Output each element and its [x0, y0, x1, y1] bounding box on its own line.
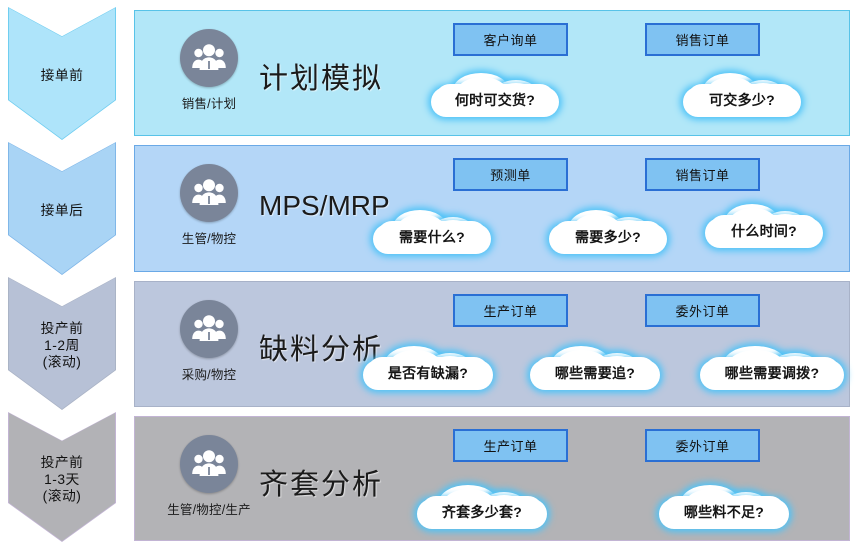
process-row-1: 生管/物控 MPS/MRP 预测单 销售订单 需要什么? 需要多少? 什么时间?	[134, 145, 850, 272]
people-group-icon	[180, 29, 238, 87]
question-cloud-3-0-label: 齐套多少套?	[442, 502, 522, 522]
order-box-3-0[interactable]: 生产订单	[453, 429, 568, 462]
process-row-0: 销售/计划 计划模拟 客户询单 销售订单 何时可交货? 可交多少?	[134, 10, 850, 136]
process-row-2: 采购/物控 缺料分析 生产订单 委外订单 是否有缺漏? 哪些需要追? 哪些需要调…	[134, 281, 850, 407]
stage-timeline-column: 接单前 接单后 投产前 1-2周 (滚动) 投产前 1-3天 (滚动)	[0, 0, 128, 545]
role-block-2: 采购/物控	[157, 300, 261, 383]
stage-chevron-3-label: 投产前 1-3天 (滚动)	[41, 454, 84, 504]
question-cloud-1-0[interactable]: 需要什么?	[373, 208, 491, 254]
stage-chevron-2[interactable]: 投产前 1-2周 (滚动)	[8, 277, 116, 410]
process-title-3: 齐套分析	[259, 461, 383, 503]
question-cloud-1-2-label: 什么时间?	[731, 221, 797, 241]
question-cloud-3-1[interactable]: 哪些料不足?	[659, 483, 789, 529]
stage-chevron-1[interactable]: 接单后	[8, 142, 116, 275]
order-box-3-1[interactable]: 委外订单	[645, 429, 760, 462]
role-block-3: 生管/物控/生产	[157, 435, 261, 518]
process-title-1: MPS/MRP	[259, 190, 390, 222]
question-cloud-0-0[interactable]: 何时可交货?	[431, 71, 559, 117]
stage-chevron-3-inner: 投产前 1-3天 (滚动)	[9, 413, 115, 541]
question-cloud-1-1-label: 需要多少?	[575, 227, 641, 247]
people-group-icon	[180, 164, 238, 222]
role-label-0: 销售/计划	[157, 93, 261, 112]
stage-chevron-0-label: 接单前	[41, 67, 84, 84]
question-cloud-3-1-label: 哪些料不足?	[684, 502, 764, 522]
order-box-1-0[interactable]: 预测单	[453, 158, 568, 191]
order-box-1-1[interactable]: 销售订单	[645, 158, 760, 191]
question-cloud-2-1-label: 哪些需要追?	[555, 363, 635, 383]
people-group-icon	[180, 300, 238, 358]
question-cloud-0-1[interactable]: 可交多少?	[683, 71, 801, 117]
people-group-icon	[180, 435, 238, 493]
stage-chevron-2-label: 投产前 1-2周 (滚动)	[41, 320, 84, 370]
process-title-0: 计划模拟	[259, 55, 383, 97]
stage-chevron-1-inner: 接单后	[9, 143, 115, 274]
order-box-2-0[interactable]: 生产订单	[453, 294, 568, 327]
question-cloud-2-0[interactable]: 是否有缺漏?	[363, 344, 493, 390]
stage-chevron-0[interactable]: 接单前	[8, 7, 116, 140]
question-cloud-2-1[interactable]: 哪些需要追?	[530, 344, 660, 390]
question-cloud-0-1-label: 可交多少?	[709, 90, 775, 110]
question-cloud-1-1[interactable]: 需要多少?	[549, 208, 667, 254]
question-cloud-3-0[interactable]: 齐套多少套?	[417, 483, 547, 529]
question-cloud-0-0-label: 何时可交货?	[455, 90, 535, 110]
role-block-0: 销售/计划	[157, 29, 261, 112]
question-cloud-2-2[interactable]: 哪些需要调拨?	[700, 344, 844, 390]
order-box-0-0[interactable]: 客户询单	[453, 23, 568, 56]
question-cloud-2-0-label: 是否有缺漏?	[388, 363, 468, 383]
stage-chevron-3[interactable]: 投产前 1-3天 (滚动)	[8, 412, 116, 542]
stage-chevron-0-inner: 接单前	[9, 8, 115, 139]
question-cloud-2-2-label: 哪些需要调拨?	[725, 363, 820, 383]
role-label-2: 采购/物控	[157, 364, 261, 383]
order-box-0-1[interactable]: 销售订单	[645, 23, 760, 56]
stage-chevron-1-label: 接单后	[41, 202, 84, 219]
stage-chevron-2-inner: 投产前 1-2周 (滚动)	[9, 278, 115, 409]
role-label-1: 生管/物控	[157, 228, 261, 247]
order-box-2-1[interactable]: 委外订单	[645, 294, 760, 327]
question-cloud-1-0-label: 需要什么?	[399, 227, 465, 247]
role-block-1: 生管/物控	[157, 164, 261, 247]
question-cloud-1-2[interactable]: 什么时间?	[705, 202, 823, 248]
role-label-3: 生管/物控/生产	[157, 499, 261, 518]
process-row-3: 生管/物控/生产 齐套分析 生产订单 委外订单 齐套多少套? 哪些料不足?	[134, 416, 850, 541]
